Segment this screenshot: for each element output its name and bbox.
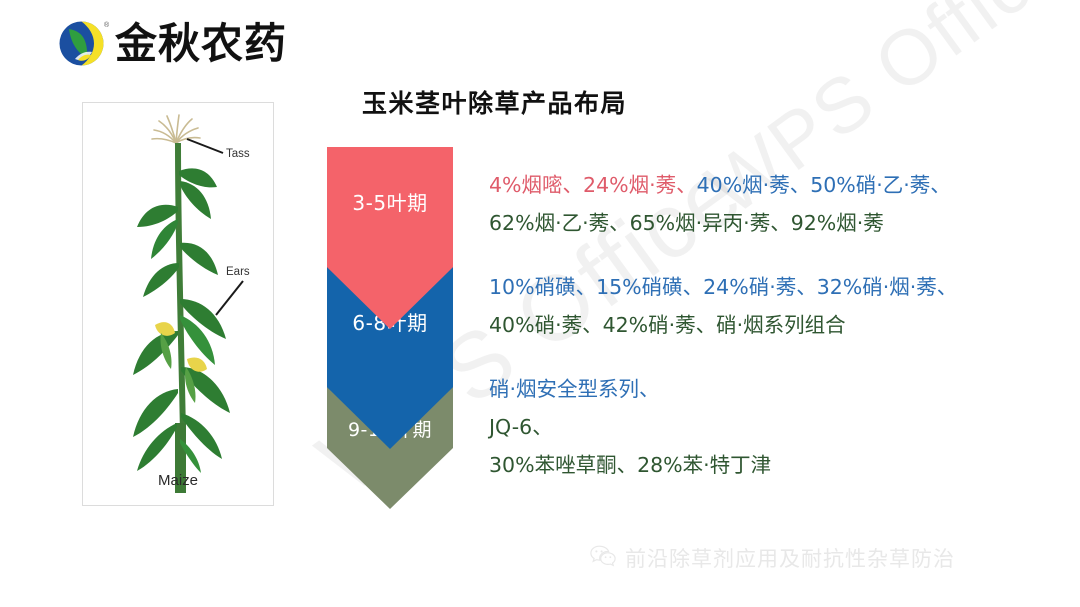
product-segment: 4%烟嘧、24%烟·莠、: [489, 173, 697, 197]
product-line: JQ-6、: [489, 408, 1064, 446]
product-line: 62%烟·乙·莠、65%烟·异丙·莠、92%烟·莠: [489, 204, 1064, 242]
product-list: 4%烟嘧、24%烟·莠、40%烟·莠、50%硝·乙·莠、62%烟·乙·莠、65%…: [489, 166, 1064, 510]
footer-text: 前沿除草剂应用及耐抗性杂草防治: [625, 543, 955, 573]
chevron-label-3-5: 3-5叶期: [327, 187, 453, 216]
product-segment: 10%硝磺、15%硝磺、24%硝·莠、32%硝·烟·莠、: [489, 275, 957, 299]
maize-figure: Tass Ears Maiz: [82, 102, 274, 506]
brand-logo: ® 金秋农药: [58, 20, 287, 67]
group-9-10-leaf: 硝·烟安全型系列、JQ-6、30%苯唑草酮、28%苯·特丁津: [489, 370, 1064, 484]
tassel-label-text: Tass: [226, 148, 250, 160]
ears-label-text: Ears: [226, 266, 250, 278]
slide-canvas: WPS Office WPS Office ® 金秋农药: [0, 0, 1080, 607]
group-3-5-leaf: 4%烟嘧、24%烟·莠、40%烟·莠、50%硝·乙·莠、62%烟·乙·莠、65%…: [489, 166, 1064, 242]
group-6-8-leaf: 10%硝磺、15%硝磺、24%硝·莠、32%硝·烟·莠、40%硝·莠、42%硝·…: [489, 268, 1064, 344]
product-line: 硝·烟安全型系列、: [489, 370, 1064, 408]
company-logo-icon: ®: [58, 20, 105, 67]
product-line: 40%硝·莠、42%硝·莠、硝·烟系列组合: [489, 306, 1064, 344]
figure-caption: Maize: [83, 472, 273, 489]
product-segment: 62%烟·乙·莠、65%烟·异丙·莠、92%烟·莠: [489, 211, 884, 235]
maize-plant-illustration: Tass Ears: [83, 103, 273, 505]
product-segment: 40%烟·莠、50%硝·乙·莠、: [697, 173, 951, 197]
product-segment: 40%硝·莠、42%硝·莠、硝·烟系列组合: [489, 313, 846, 337]
brand-name: 金秋农药: [115, 23, 287, 65]
product-segment: JQ-6、: [489, 415, 553, 439]
trademark-symbol: ®: [104, 22, 109, 29]
product-line: 10%硝磺、15%硝磺、24%硝·莠、32%硝·烟·莠、: [489, 268, 1064, 306]
product-segment: 30%苯唑草酮、28%苯·特丁津: [489, 453, 771, 477]
product-line: 30%苯唑草酮、28%苯·特丁津: [489, 446, 1064, 484]
chevron-shape-3-5: [327, 147, 453, 329]
growth-stage-chevrons: 9-10叶期 6-8叶期 3-5叶期: [327, 147, 453, 509]
footer-attribution: 前沿除草剂应用及耐抗性杂草防治: [590, 543, 955, 573]
chevron-stage-3-5[interactable]: 3-5叶期: [327, 147, 453, 329]
page-title: 玉米茎叶除草产品布局: [362, 84, 627, 120]
wechat-icon: [590, 545, 616, 572]
product-segment: 硝·烟安全型系列、: [489, 377, 660, 401]
product-line: 4%烟嘧、24%烟·莠、40%烟·莠、50%硝·乙·莠、: [489, 166, 1064, 204]
